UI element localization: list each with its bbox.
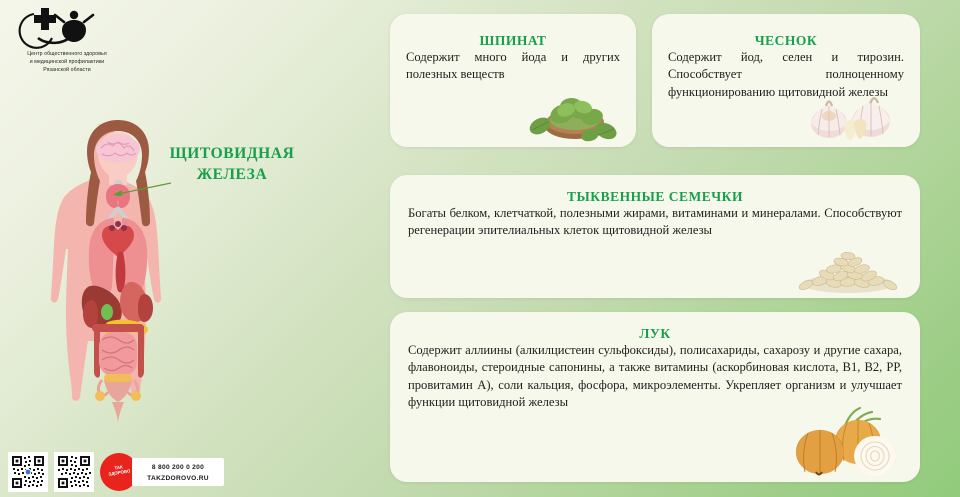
callout-line-1: ЩИТОВИДНАЯ <box>152 143 312 164</box>
website-url: TAKZDOROVO.RU <box>132 473 224 484</box>
contact-block[interactable]: 8 800 200 0 200 TAKZDOROVO.RU <box>132 458 224 486</box>
card-title-seeds: ТЫКВЕННЫЕ СЕМЕЧКИ <box>408 188 902 205</box>
card-text-spinach: Содержит много йода и других полезных ве… <box>406 49 620 84</box>
pumpkin-seeds-image <box>790 237 906 300</box>
garlic-bulbs-image <box>792 90 904 149</box>
card-title-garlic: ЧЕСНОК <box>668 32 904 49</box>
spinach-bowl-image <box>518 86 622 149</box>
logo-mark-icon <box>8 4 126 50</box>
food-card-spinach[interactable]: ШПИНАТ Содержит много йода и других поле… <box>390 14 636 147</box>
poster-canvas: Центр общественного здоровья и медицинск… <box>0 0 960 497</box>
card-text-seeds: Богаты белком, клетчаткой, полезными жир… <box>408 205 902 240</box>
hotline-phone: 8 800 200 0 200 <box>132 458 224 473</box>
card-title-onion: ЛУК <box>408 325 902 342</box>
food-card-pumpkin-seeds[interactable]: ТЫКВЕННЫЕ СЕМЕЧКИ Богаты белком, клетчат… <box>390 175 920 298</box>
logo-caption-line-2: и медицинской профилактики <box>8 58 126 66</box>
callout-line-2: ЖЕЛЕЗА <box>152 164 312 185</box>
badge-label: ТАК ЗДОРОВО <box>103 463 134 478</box>
card-title-spinach: ШПИНАТ <box>406 32 620 49</box>
logo-caption: Центр общественного здоровья и медицинск… <box>8 50 126 75</box>
logo-caption-line-1: Центр общественного здоровья <box>8 50 126 58</box>
card-text-onion: Содержит аллиины (алкилцистеин сульфокси… <box>408 342 902 412</box>
food-card-onion[interactable]: ЛУК Содержит аллиины (алкилцистеин сульф… <box>390 312 920 482</box>
qr-code-2[interactable] <box>54 452 94 492</box>
qr-code-1[interactable] <box>8 452 48 492</box>
thyroid-callout-label: ЩИТОВИДНАЯ ЖЕЛЕЗА <box>152 143 312 185</box>
onions-image <box>782 406 908 483</box>
organization-logo: Центр общественного здоровья и медицинск… <box>8 4 126 82</box>
food-card-garlic[interactable]: ЧЕСНОК Содержит йод, селен и тирозин. Сп… <box>652 14 920 147</box>
logo-caption-line-3: Рязанской области <box>8 66 126 74</box>
